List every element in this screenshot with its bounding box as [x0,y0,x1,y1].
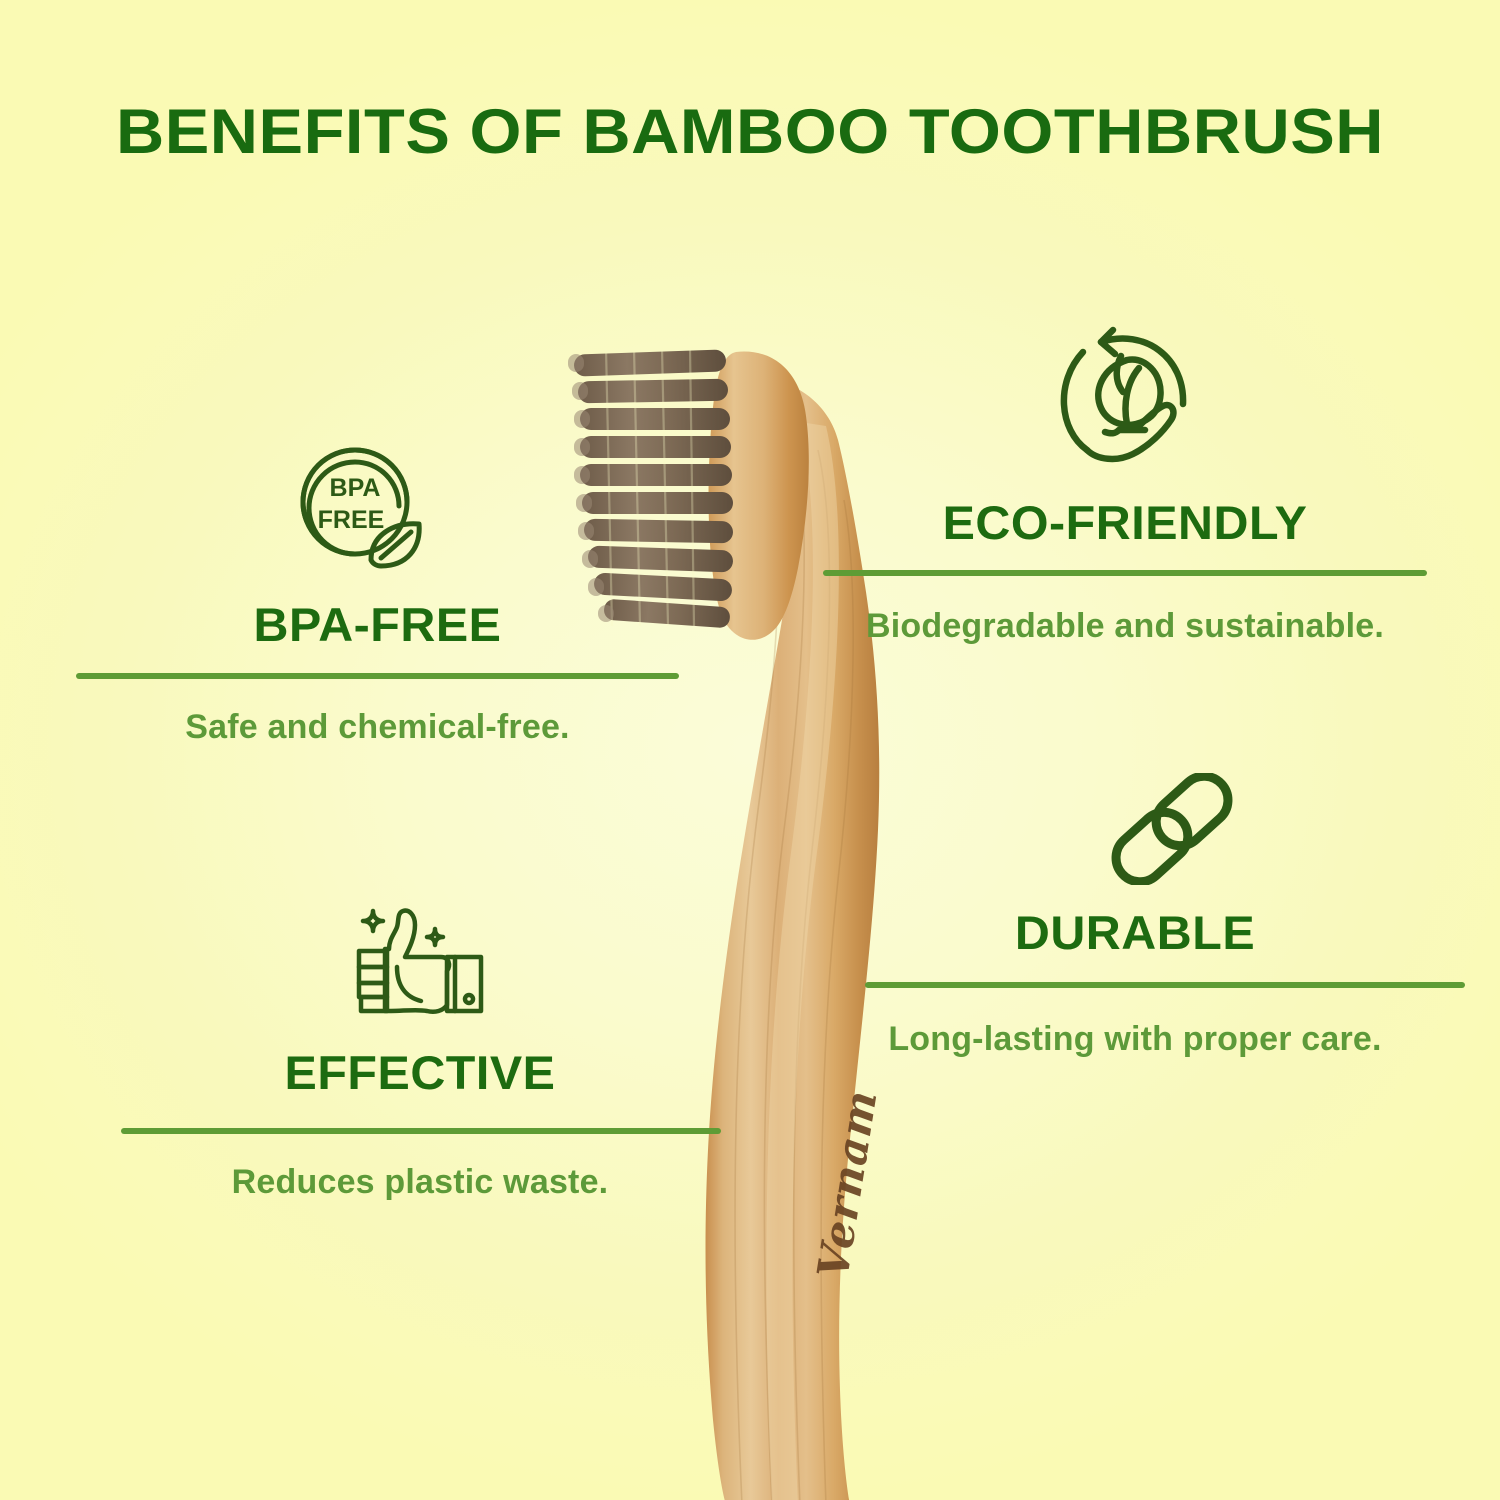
thumbs-up-sparkle-icon [347,893,497,1023]
feature-description-effective: Reduces plastic waste. [0,1163,840,1202]
bpa-icon-label-line1: BPA [330,474,381,502]
feature-heading-effective: EFFECTIVE [0,1045,853,1100]
feature-description-eco-friendly: Biodegradable and sustainable. [750,607,1500,646]
feature-description-bpa-free: Safe and chemical-free. [0,708,755,747]
bpa-free-badge-icon: BPA FREE [285,442,435,570]
feature-divider-eco-friendly [823,570,1427,576]
page-title: BENEFITS OF BAMBOO TOOTHBRUSH [0,96,1500,168]
infographic-canvas: BENEFITS OF BAMBOO TOOTHBRUSH [0,0,1500,1500]
feature-divider-durable [865,982,1465,988]
feature-heading-bpa-free: BPA-FREE [0,597,766,652]
bpa-icon-label-line2: FREE [318,506,385,534]
feature-description-durable: Long-lasting with proper care. [760,1020,1500,1059]
hand-holding-leaf-recycle-icon [1053,324,1201,472]
feature-divider-effective [121,1128,721,1134]
feature-heading-eco-friendly: ECO-FRIENDLY [739,495,1500,550]
feature-divider-bpa-free [76,673,679,679]
chain-links-icon [1103,773,1241,885]
feature-heading-durable: DURABLE [749,905,1500,960]
